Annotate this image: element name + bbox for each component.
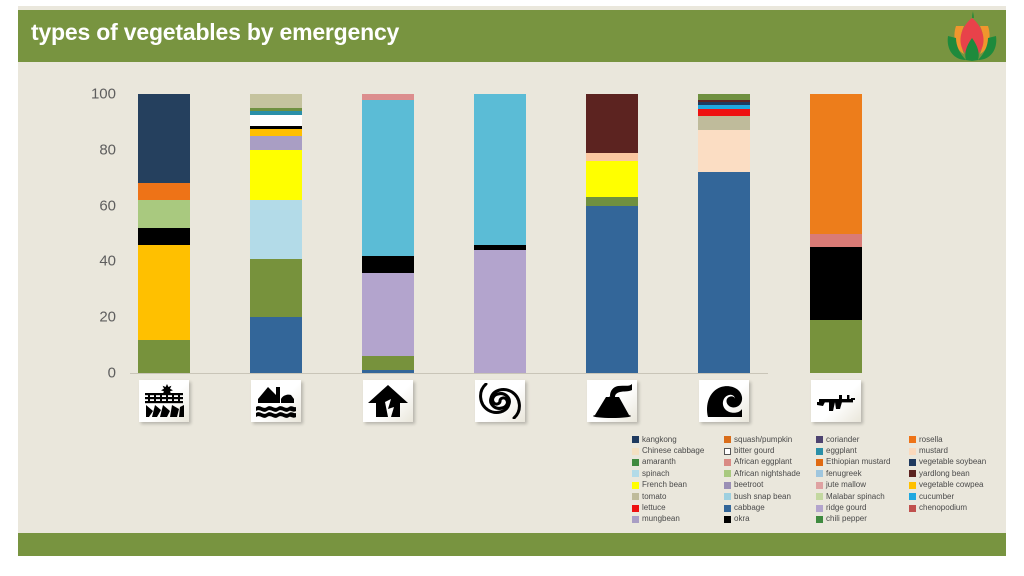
legend-swatch: [816, 470, 823, 477]
bar-earthquake[interactable]: [362, 94, 414, 373]
legend-swatch: [909, 482, 916, 489]
legend-column: coriandereggplantEthiopian mustardfenugr…: [816, 434, 909, 525]
page-title: types of vegetables by emergency: [31, 19, 399, 46]
bar-segment[interactable]: [362, 273, 414, 357]
bar-segment[interactable]: [138, 183, 190, 200]
flood-house-water-icon: [251, 380, 301, 422]
legend-label: beetroot: [734, 481, 763, 489]
chart-legend: kangkongChinese cabbageamaranthspinachFr…: [632, 434, 1002, 525]
bar-segment[interactable]: [586, 153, 638, 161]
bar-segment[interactable]: [138, 94, 190, 183]
legend-item[interactable]: jute mallow: [816, 480, 909, 491]
legend-item[interactable]: chenopodium: [909, 502, 1002, 513]
legend-item[interactable]: amaranth: [632, 457, 724, 468]
bar-segment[interactable]: [810, 247, 862, 320]
legend-item[interactable]: squash/pumpkin: [724, 434, 816, 445]
legend-swatch: [724, 459, 731, 466]
stacked-bar-chart: 100806040200: [60, 80, 920, 380]
y-axis-tick: 100: [60, 86, 116, 103]
legend-item[interactable]: French bean: [632, 480, 724, 491]
legend-swatch: [816, 505, 823, 512]
legend-swatch: [632, 436, 639, 443]
legend-label: Malabar spinach: [826, 493, 885, 501]
bar-segment[interactable]: [138, 340, 190, 373]
legend-label: lettuce: [642, 504, 666, 512]
conflict-rifle-icon: [811, 380, 861, 422]
legend-item[interactable]: fenugreek: [816, 468, 909, 479]
bar-segment[interactable]: [138, 200, 190, 228]
legend-label: coriander: [826, 436, 859, 444]
legend-label: ridge gourd: [826, 504, 866, 512]
legend-column: rosellamustardvegetable soybeanyardlong …: [909, 434, 1002, 525]
legend-swatch: [632, 470, 639, 477]
legend-item[interactable]: mungbean: [632, 514, 724, 525]
legend-item[interactable]: mustard: [909, 445, 1002, 456]
tsunami-wave-icon: [699, 380, 749, 422]
legend-label: African eggplant: [734, 458, 792, 466]
bar-segment[interactable]: [138, 245, 190, 340]
legend-label: kangkong: [642, 436, 677, 444]
legend-swatch: [816, 459, 823, 466]
bar-volcano[interactable]: [586, 94, 638, 373]
legend-item[interactable]: lettuce: [632, 502, 724, 513]
legend-label: fenugreek: [826, 470, 862, 478]
tulip-flower-logo: [938, 10, 1006, 62]
legend-swatch: [632, 516, 639, 523]
legend-item[interactable]: chili pepper: [816, 514, 909, 525]
legend-label: chili pepper: [826, 515, 867, 523]
bar-segment[interactable]: [586, 206, 638, 373]
legend-swatch: [909, 459, 916, 466]
legend-label: yardlong bean: [919, 470, 970, 478]
legend-column: squash/pumpkinbitter gourdAfrican eggpla…: [724, 434, 816, 525]
legend-item[interactable]: bush snap bean: [724, 491, 816, 502]
legend-item[interactable]: cucumber: [909, 491, 1002, 502]
bar-segment[interactable]: [698, 172, 750, 373]
bar-flood[interactable]: [250, 94, 302, 373]
legend-swatch: [909, 505, 916, 512]
legend-label: chenopodium: [919, 504, 967, 512]
bar-segment[interactable]: [698, 130, 750, 172]
legend-swatch: [816, 493, 823, 500]
y-axis-tick: 80: [60, 141, 116, 158]
legend-item[interactable]: vegetable soybean: [909, 457, 1002, 468]
legend-item[interactable]: Malabar spinach: [816, 491, 909, 502]
legend-swatch: [724, 505, 731, 512]
bar-segment[interactable]: [250, 317, 302, 373]
legend-label: amaranth: [642, 458, 676, 466]
legend-label: bush snap bean: [734, 493, 791, 501]
legend-item[interactable]: rosella: [909, 434, 1002, 445]
plot-area: [138, 94, 900, 373]
legend-swatch: [632, 459, 639, 466]
y-axis-tick: 20: [60, 309, 116, 326]
legend-swatch: [724, 493, 731, 500]
drought-cracked-earth-icon: [139, 380, 189, 422]
bar-drought[interactable]: [138, 94, 190, 373]
legend-swatch: [816, 436, 823, 443]
legend-label: mungbean: [642, 515, 680, 523]
legend-label: jute mallow: [826, 481, 866, 489]
legend-swatch: [816, 448, 823, 455]
legend-swatch: [816, 516, 823, 523]
legend-item[interactable]: Ethiopian mustard: [816, 457, 909, 468]
legend-item[interactable]: beetroot: [724, 480, 816, 491]
legend-item[interactable]: vegetable cowpea: [909, 480, 1002, 491]
legend-label: bitter gourd: [734, 447, 774, 455]
legend-item[interactable]: bitter gourd: [724, 445, 816, 456]
legend-swatch: [632, 482, 639, 489]
legend-swatch: [724, 436, 731, 443]
legend-item[interactable]: cabbage: [724, 502, 816, 513]
legend-item[interactable]: tomato: [632, 491, 724, 502]
legend-swatch: [909, 470, 916, 477]
bar-segment[interactable]: [362, 100, 414, 256]
bar-segment[interactable]: [474, 94, 526, 245]
legend-item[interactable]: Chinese cabbage: [632, 445, 724, 456]
legend-item[interactable]: coriander: [816, 434, 909, 445]
bar-segment[interactable]: [698, 116, 750, 130]
legend-swatch: [724, 516, 731, 523]
legend-label: mustard: [919, 447, 948, 455]
footer-band: [18, 533, 1006, 556]
bar-segment[interactable]: [362, 370, 414, 373]
bar-segment[interactable]: [250, 136, 302, 150]
bar-segment[interactable]: [586, 197, 638, 205]
bar-segment[interactable]: [138, 228, 190, 245]
bar-segment[interactable]: [810, 234, 862, 248]
earthquake-cracked-house-icon: [363, 380, 413, 422]
legend-label: cucumber: [919, 493, 954, 501]
cyclone-spiral-icon: [475, 380, 525, 422]
legend-swatch: [632, 505, 639, 512]
bar-segment[interactable]: [250, 200, 302, 259]
legend-swatch: [632, 448, 639, 455]
legend-column: kangkongChinese cabbageamaranthspinachFr…: [632, 434, 724, 525]
legend-swatch: [909, 493, 916, 500]
y-axis-tick: 60: [60, 197, 116, 214]
legend-swatch: [909, 436, 916, 443]
bar-cyclone[interactable]: [474, 94, 526, 373]
legend-item[interactable]: eggplant: [816, 445, 909, 456]
bar-segment[interactable]: [362, 256, 414, 273]
bar-segment[interactable]: [586, 94, 638, 153]
legend-label: rosella: [919, 436, 943, 444]
legend-swatch: [724, 470, 731, 477]
bar-segment[interactable]: [474, 250, 526, 373]
slide: types of vegetables by emergency 1008060…: [0, 0, 1024, 576]
legend-label: squash/pumpkin: [734, 436, 792, 444]
volcano-eruption-icon: [587, 380, 637, 422]
bar-segment[interactable]: [586, 161, 638, 197]
legend-swatch: [724, 482, 731, 489]
y-axis-tick: 40: [60, 253, 116, 270]
legend-item[interactable]: spinach: [632, 468, 724, 479]
bar-segment[interactable]: [250, 129, 302, 136]
legend-label: vegetable cowpea: [919, 481, 984, 489]
bar-segment[interactable]: [250, 94, 302, 108]
legend-label: spinach: [642, 470, 670, 478]
bar-segment[interactable]: [810, 94, 862, 234]
legend-label: tomato: [642, 493, 666, 501]
legend-label: cabbage: [734, 504, 765, 512]
y-axis-tick: 0: [60, 365, 116, 382]
legend-label: French bean: [642, 481, 687, 489]
legend-label: vegetable soybean: [919, 458, 986, 466]
legend-label: African nightshade: [734, 470, 800, 478]
axis-baseline: [130, 373, 768, 374]
legend-swatch: [632, 493, 639, 500]
legend-item[interactable]: ridge gourd: [816, 502, 909, 513]
bar-segment[interactable]: [250, 115, 302, 126]
legend-item[interactable]: kangkong: [632, 434, 724, 445]
legend-item[interactable]: okra: [724, 514, 816, 525]
legend-swatch: [816, 482, 823, 489]
legend-label: okra: [734, 515, 750, 523]
legend-item[interactable]: African eggplant: [724, 457, 816, 468]
bar-segment[interactable]: [250, 259, 302, 318]
bar-segment[interactable]: [250, 150, 302, 200]
legend-swatch: [909, 448, 916, 455]
bar-tsunami[interactable]: [698, 94, 750, 373]
bar-segment[interactable]: [698, 109, 750, 116]
legend-swatch: [724, 448, 731, 455]
legend-label: Ethiopian mustard: [826, 458, 890, 466]
legend-item[interactable]: yardlong bean: [909, 468, 1002, 479]
bar-segment[interactable]: [362, 356, 414, 370]
legend-item[interactable]: African nightshade: [724, 468, 816, 479]
bar-conflict[interactable]: [810, 94, 862, 373]
legend-label: Chinese cabbage: [642, 447, 704, 455]
legend-label: eggplant: [826, 447, 857, 455]
bar-segment[interactable]: [810, 320, 862, 373]
